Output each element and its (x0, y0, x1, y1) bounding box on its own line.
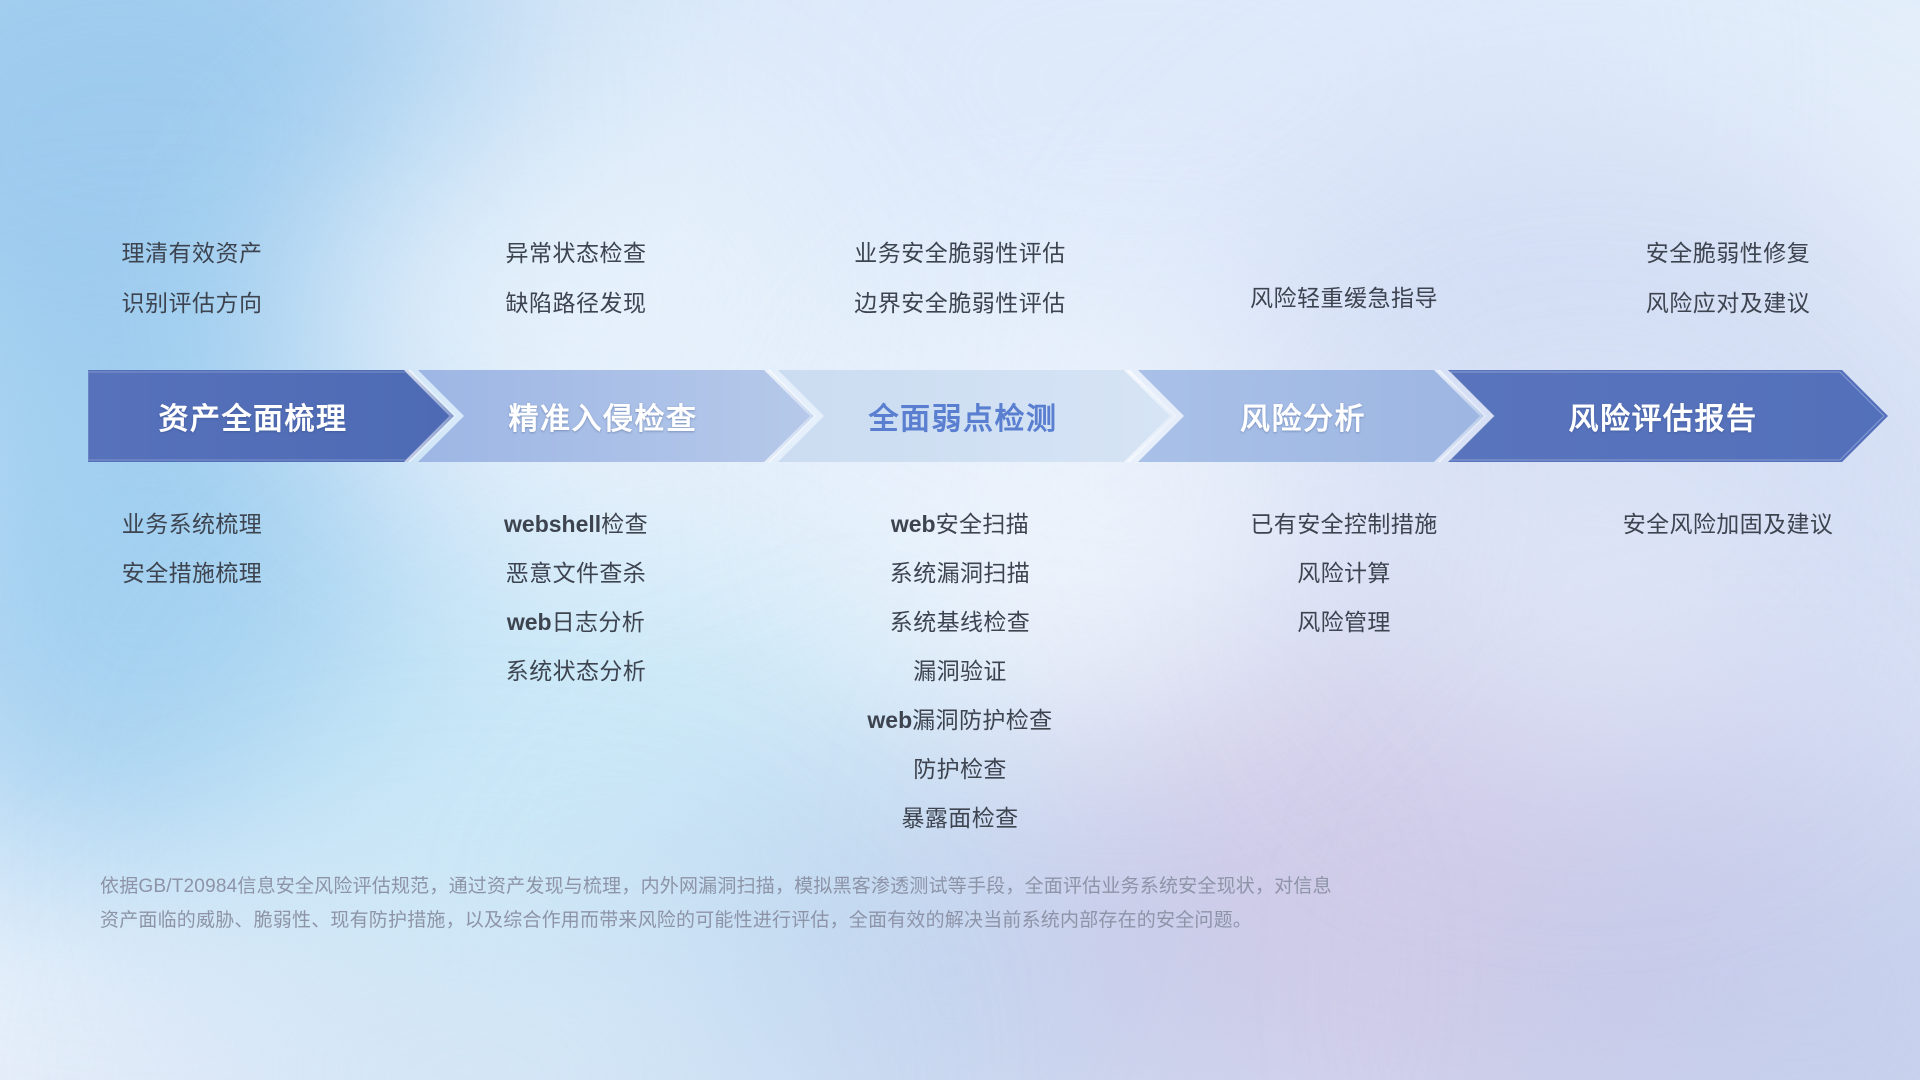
bottom-label-cjk: 已有安全控制措施 (1250, 511, 1437, 537)
bottom-label: 安全风险加固及建议 (1623, 500, 1834, 549)
bottom-label-column-4: 已有安全控制措施风险计算风险管理 (1152, 500, 1536, 647)
bottom-label-cjk: 风险管理 (1297, 609, 1391, 635)
top-label: 风险轻重缓急指导 (1250, 273, 1438, 323)
bottom-label-cjk: 安全风险加固及建议 (1623, 511, 1834, 537)
top-label-column-5: 安全脆弱性修复风险应对及建议 (1536, 228, 1920, 368)
bottom-label: 业务系统梳理 (122, 500, 262, 549)
bottom-label-cjk: 漏洞验证 (913, 658, 1007, 684)
bottom-label-cjk: 漏洞防护检查 (912, 707, 1052, 733)
bottom-label: 系统状态分析 (506, 647, 646, 696)
bottom-label-cjk: 风险计算 (1297, 560, 1391, 586)
bottom-label-cjk: 业务系统梳理 (122, 511, 262, 537)
bottom-label: 风险计算 (1297, 549, 1391, 598)
bottom-label: webshell检查 (504, 500, 648, 549)
footer-description: 依据GB/T20984信息安全风险评估规范，通过资产发现与梳理，内外网漏洞扫描，… (100, 870, 1660, 938)
bottom-label: 系统基线检查 (890, 598, 1030, 647)
footer-line-2: 资产面临的威胁、脆弱性、现有防护措施，以及综合作用而带来风险的可能性进行评估，全… (100, 904, 1660, 938)
top-label: 安全脆弱性修复 (1646, 228, 1811, 278)
top-label: 缺陷路径发现 (506, 278, 647, 328)
top-label-row: 理清有效资产识别评估方向异常状态检查缺陷路径发现业务安全脆弱性评估边界安全脆弱性… (0, 228, 1920, 368)
process-chevron-banner: 资产全面梳理 精准入侵检查 全面弱点检测 风险分析 风险评估报告 (88, 370, 1888, 462)
bottom-label-cjk: 系统状态分析 (506, 658, 646, 684)
bottom-label: web漏洞防护检查 (867, 696, 1052, 745)
bottom-label-column-5: 安全风险加固及建议 (1536, 500, 1920, 549)
top-label: 业务安全脆弱性评估 (854, 228, 1066, 278)
bottom-label: web安全扫描 (891, 500, 1029, 549)
bottom-label-column-2: webshell检查恶意文件查杀web日志分析系统状态分析 (384, 500, 768, 696)
top-label: 边界安全脆弱性评估 (854, 278, 1066, 328)
bottom-label-latin: web (867, 707, 912, 733)
bottom-label-cjk: 安全措施梳理 (122, 560, 262, 586)
top-label: 风险应对及建议 (1646, 278, 1811, 328)
bottom-label: 恶意文件查杀 (506, 549, 646, 598)
bottom-label: 系统漏洞扫描 (890, 549, 1030, 598)
bottom-label-column-3: web安全扫描系统漏洞扫描系统基线检查漏洞验证web漏洞防护检查防护检查暴露面检… (768, 500, 1152, 843)
bottom-label: 风险管理 (1297, 598, 1391, 647)
bottom-label: 安全措施梳理 (122, 549, 262, 598)
bottom-label-cjk: 检查 (601, 511, 648, 537)
bottom-label-cjk: 恶意文件查杀 (506, 560, 646, 586)
top-label: 异常状态检查 (506, 228, 647, 278)
bottom-label-cjk: 系统漏洞扫描 (890, 560, 1030, 586)
top-label-column-3: 业务安全脆弱性评估边界安全脆弱性评估 (768, 228, 1152, 368)
bottom-label: 已有安全控制措施 (1250, 500, 1437, 549)
process-flow-diagram: 理清有效资产识别评估方向异常状态检查缺陷路径发现业务安全脆弱性评估边界安全脆弱性… (0, 0, 1920, 1080)
top-label: 理清有效资产 (122, 228, 263, 278)
bottom-label-cjk: 安全扫描 (936, 511, 1030, 537)
bottom-label-column-1: 业务系统梳理安全措施梳理 (0, 500, 384, 598)
bottom-label-cjk: 日志分析 (552, 609, 646, 635)
bottom-label: 暴露面检查 (902, 794, 1019, 843)
top-label-column-4: 风险轻重缓急指导 (1152, 228, 1536, 368)
bottom-label: 防护检查 (913, 745, 1007, 794)
bottom-label-latin: web (891, 511, 936, 537)
footer-line-1: 依据GB/T20984信息安全风险评估规范，通过资产发现与梳理，内外网漏洞扫描，… (100, 870, 1660, 904)
chevron-shapes (88, 370, 1888, 462)
bottom-label: web日志分析 (507, 598, 645, 647)
top-label-column-2: 异常状态检查缺陷路径发现 (384, 228, 768, 368)
bottom-label: 漏洞验证 (913, 647, 1007, 696)
bottom-label-cjk: 防护检查 (913, 756, 1007, 782)
bottom-label-latin: web (507, 609, 552, 635)
bottom-label-row: 业务系统梳理安全措施梳理webshell检查恶意文件查杀web日志分析系统状态分… (0, 500, 1920, 843)
bottom-label-cjk: 暴露面检查 (902, 805, 1019, 831)
bottom-label-latin: webshell (504, 511, 601, 537)
bottom-label-cjk: 系统基线检查 (890, 609, 1030, 635)
top-label: 识别评估方向 (122, 278, 263, 328)
top-label-column-1: 理清有效资产识别评估方向 (0, 228, 384, 368)
